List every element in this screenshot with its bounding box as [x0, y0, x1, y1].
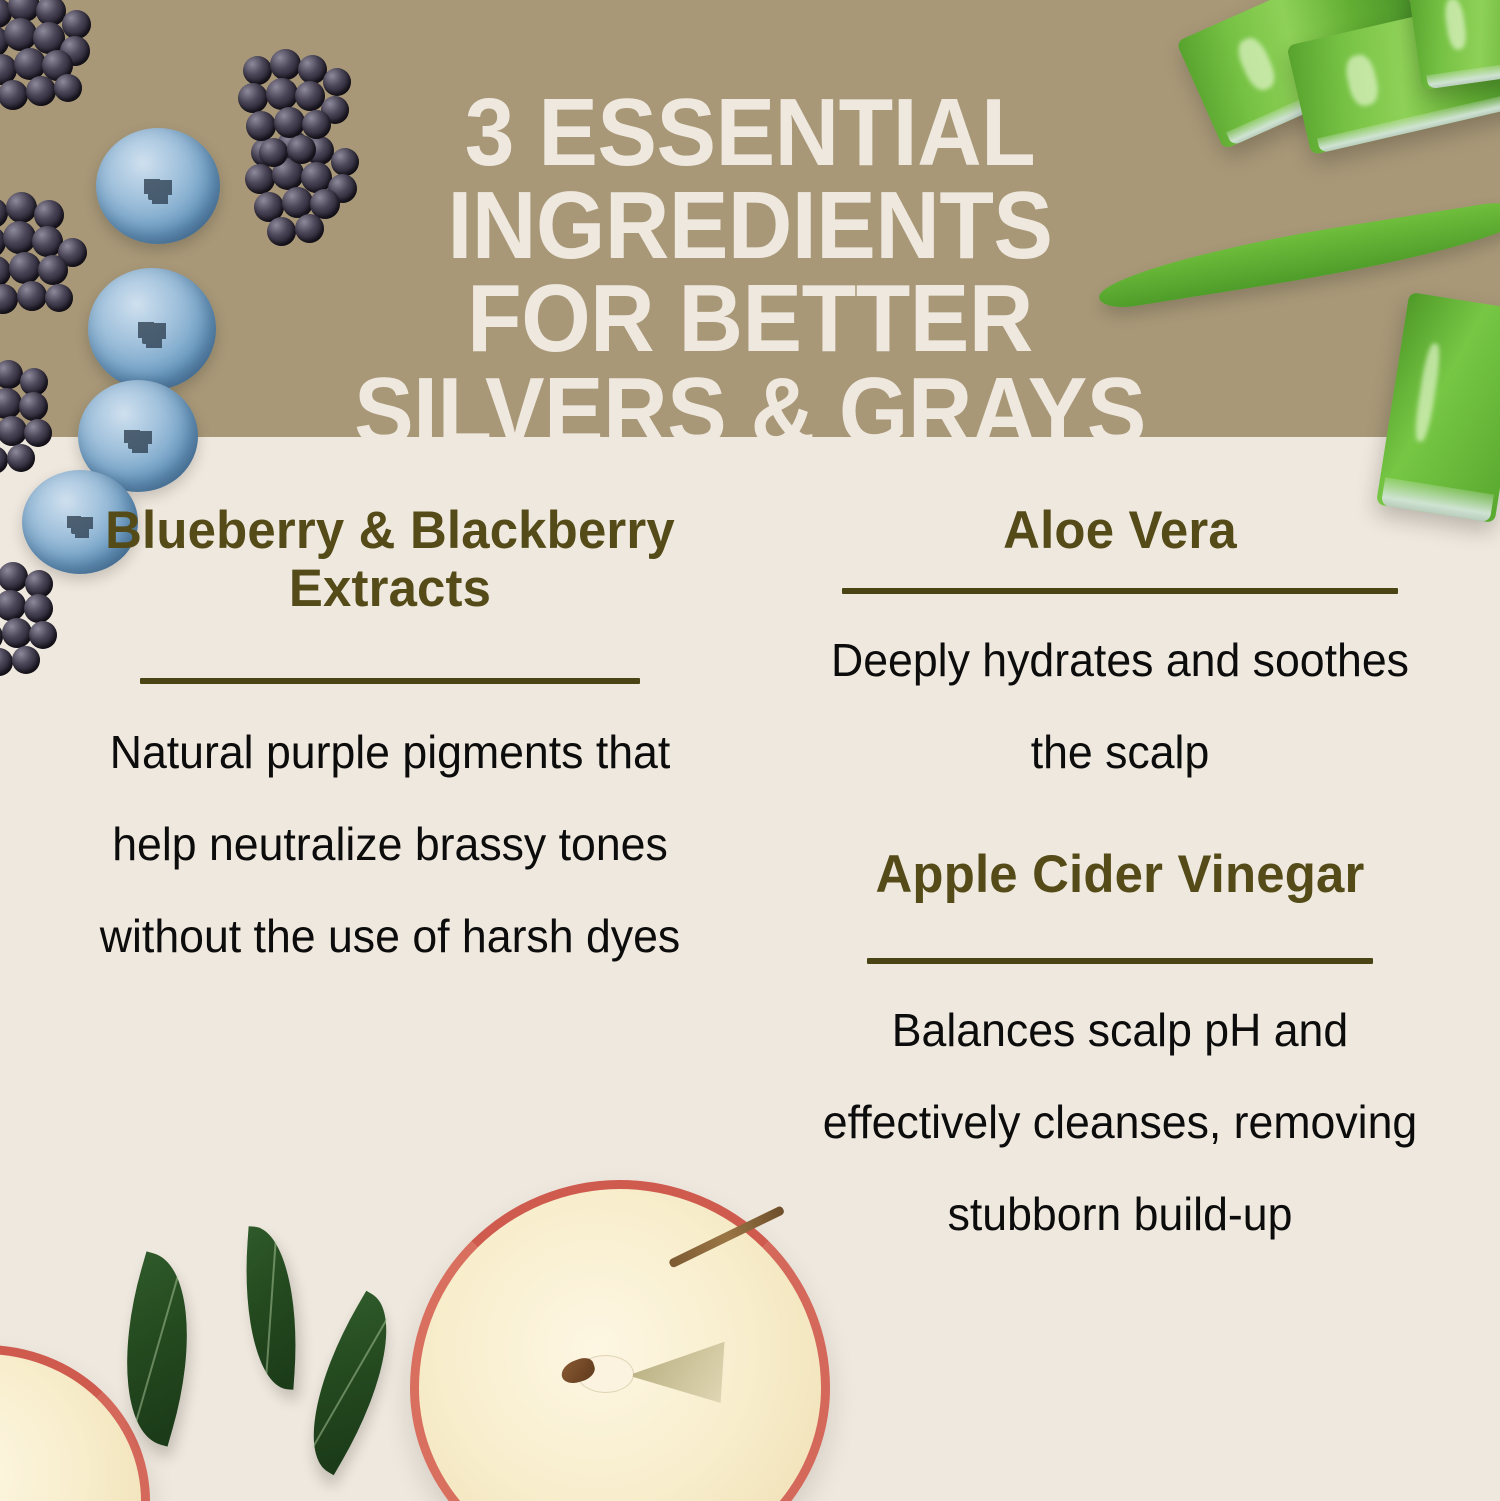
ingredient-card-aloe-vera: Aloe Vera Deeply hydrates and soothes th…	[790, 437, 1450, 798]
ingredient-column-right: Aloe Vera Deeply hydrates and soothes th…	[790, 437, 1450, 1260]
ingredient-description: Deeply hydrates and soothes the scalp	[800, 614, 1440, 798]
ingredient-description: Balances scalp pH and effectively cleans…	[800, 984, 1440, 1260]
ingredient-title: Apple Cider Vinegar	[803, 846, 1437, 904]
ingredient-divider	[842, 588, 1398, 594]
apple-half-photo	[410, 1180, 830, 1501]
header-band: 3 ESSENTIAL INGREDIENTS FOR BETTER SILVE…	[0, 0, 1500, 437]
ingredient-divider	[867, 958, 1373, 964]
ingredient-divider	[140, 678, 640, 684]
ingredient-description: Natural purple pigments that help neutra…	[70, 706, 710, 982]
ingredient-card-blueberry-blackberry: Blueberry & Blackberry Extracts Natural …	[60, 437, 720, 982]
green-leaf-photo	[278, 1291, 421, 1475]
apple-slice-photo	[0, 1345, 150, 1501]
ingredient-title: Aloe Vera	[803, 502, 1437, 560]
green-leaf-photo	[237, 1226, 304, 1390]
page-title: 3 ESSENTIAL INGREDIENTS FOR BETTER SILVE…	[53, 86, 1448, 437]
ingredient-title: Blueberry & Blackberry Extracts	[73, 502, 707, 618]
infographic-canvas: 3 ESSENTIAL INGREDIENTS FOR BETTER SILVE…	[0, 0, 1500, 1501]
green-leaf-photo	[96, 1251, 217, 1446]
ingredient-column-left: Blueberry & Blackberry Extracts Natural …	[60, 437, 720, 982]
ingredient-card-apple-cider-vinegar: Apple Cider Vinegar Balances scalp pH an…	[790, 798, 1450, 1260]
